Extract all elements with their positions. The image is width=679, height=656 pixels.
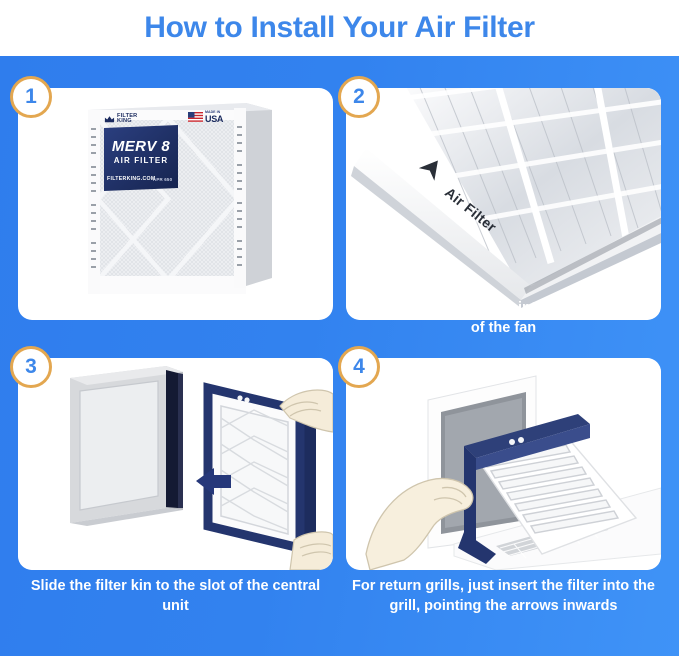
- step-1-caption: Remove the air filter from the package: [18, 299, 333, 319]
- step-1: FILTER KING: [18, 88, 333, 320]
- page-title: How to Install Your Air Filter: [144, 11, 534, 45]
- step-2-number: 2: [353, 85, 365, 109]
- step-4-badge: 4: [338, 346, 380, 388]
- header: How to Install Your Air Filter: [0, 0, 679, 56]
- merv-rating: MERV 8: [110, 138, 172, 155]
- steps-background: FILTER KING: [0, 56, 679, 656]
- step-4-number: 4: [353, 355, 365, 379]
- step-2-card: Air Filter: [346, 88, 661, 320]
- step-1-number: 1: [25, 85, 37, 109]
- step-4-card: [346, 358, 661, 570]
- brand-logo: FILTER KING: [104, 112, 180, 126]
- apr-text: APR 650: [153, 177, 177, 182]
- steps-grid: FILTER KING: [0, 56, 679, 656]
- filter-type: AIR FILTER: [110, 156, 172, 165]
- country-text: USA: [205, 115, 223, 124]
- step-4-caption: For return grills, just insert the filte…: [346, 577, 661, 616]
- step-2-caption: Locate the arrow and point it in the dir…: [346, 299, 661, 338]
- step-3-badge: 3: [10, 346, 52, 388]
- step-3-card: [18, 358, 333, 570]
- crown-icon: [104, 114, 115, 125]
- step-1-badge: 1: [10, 76, 52, 118]
- brand-line-2: KING: [117, 119, 137, 124]
- step-1-card: FILTER KING: [18, 88, 333, 320]
- step-2-artwork: [346, 88, 661, 320]
- step-3: 3: [18, 358, 333, 570]
- step-3-caption: Slide the filter kin to the slot of the …: [18, 577, 333, 616]
- step-2: Air Filter 2: [346, 88, 661, 320]
- step-4-artwork: [346, 358, 661, 570]
- step-3-artwork: [18, 358, 333, 570]
- step-3-number: 3: [25, 355, 37, 379]
- step-4: 4: [346, 358, 661, 570]
- infographic-page: How to Install Your Air Filter: [0, 0, 679, 656]
- made-in-usa-mark: MADE IN USA: [188, 111, 223, 124]
- step-2-badge: 2: [338, 76, 380, 118]
- website-text: FILTERKING.COM: [107, 176, 149, 182]
- usa-flag-icon: [188, 112, 203, 122]
